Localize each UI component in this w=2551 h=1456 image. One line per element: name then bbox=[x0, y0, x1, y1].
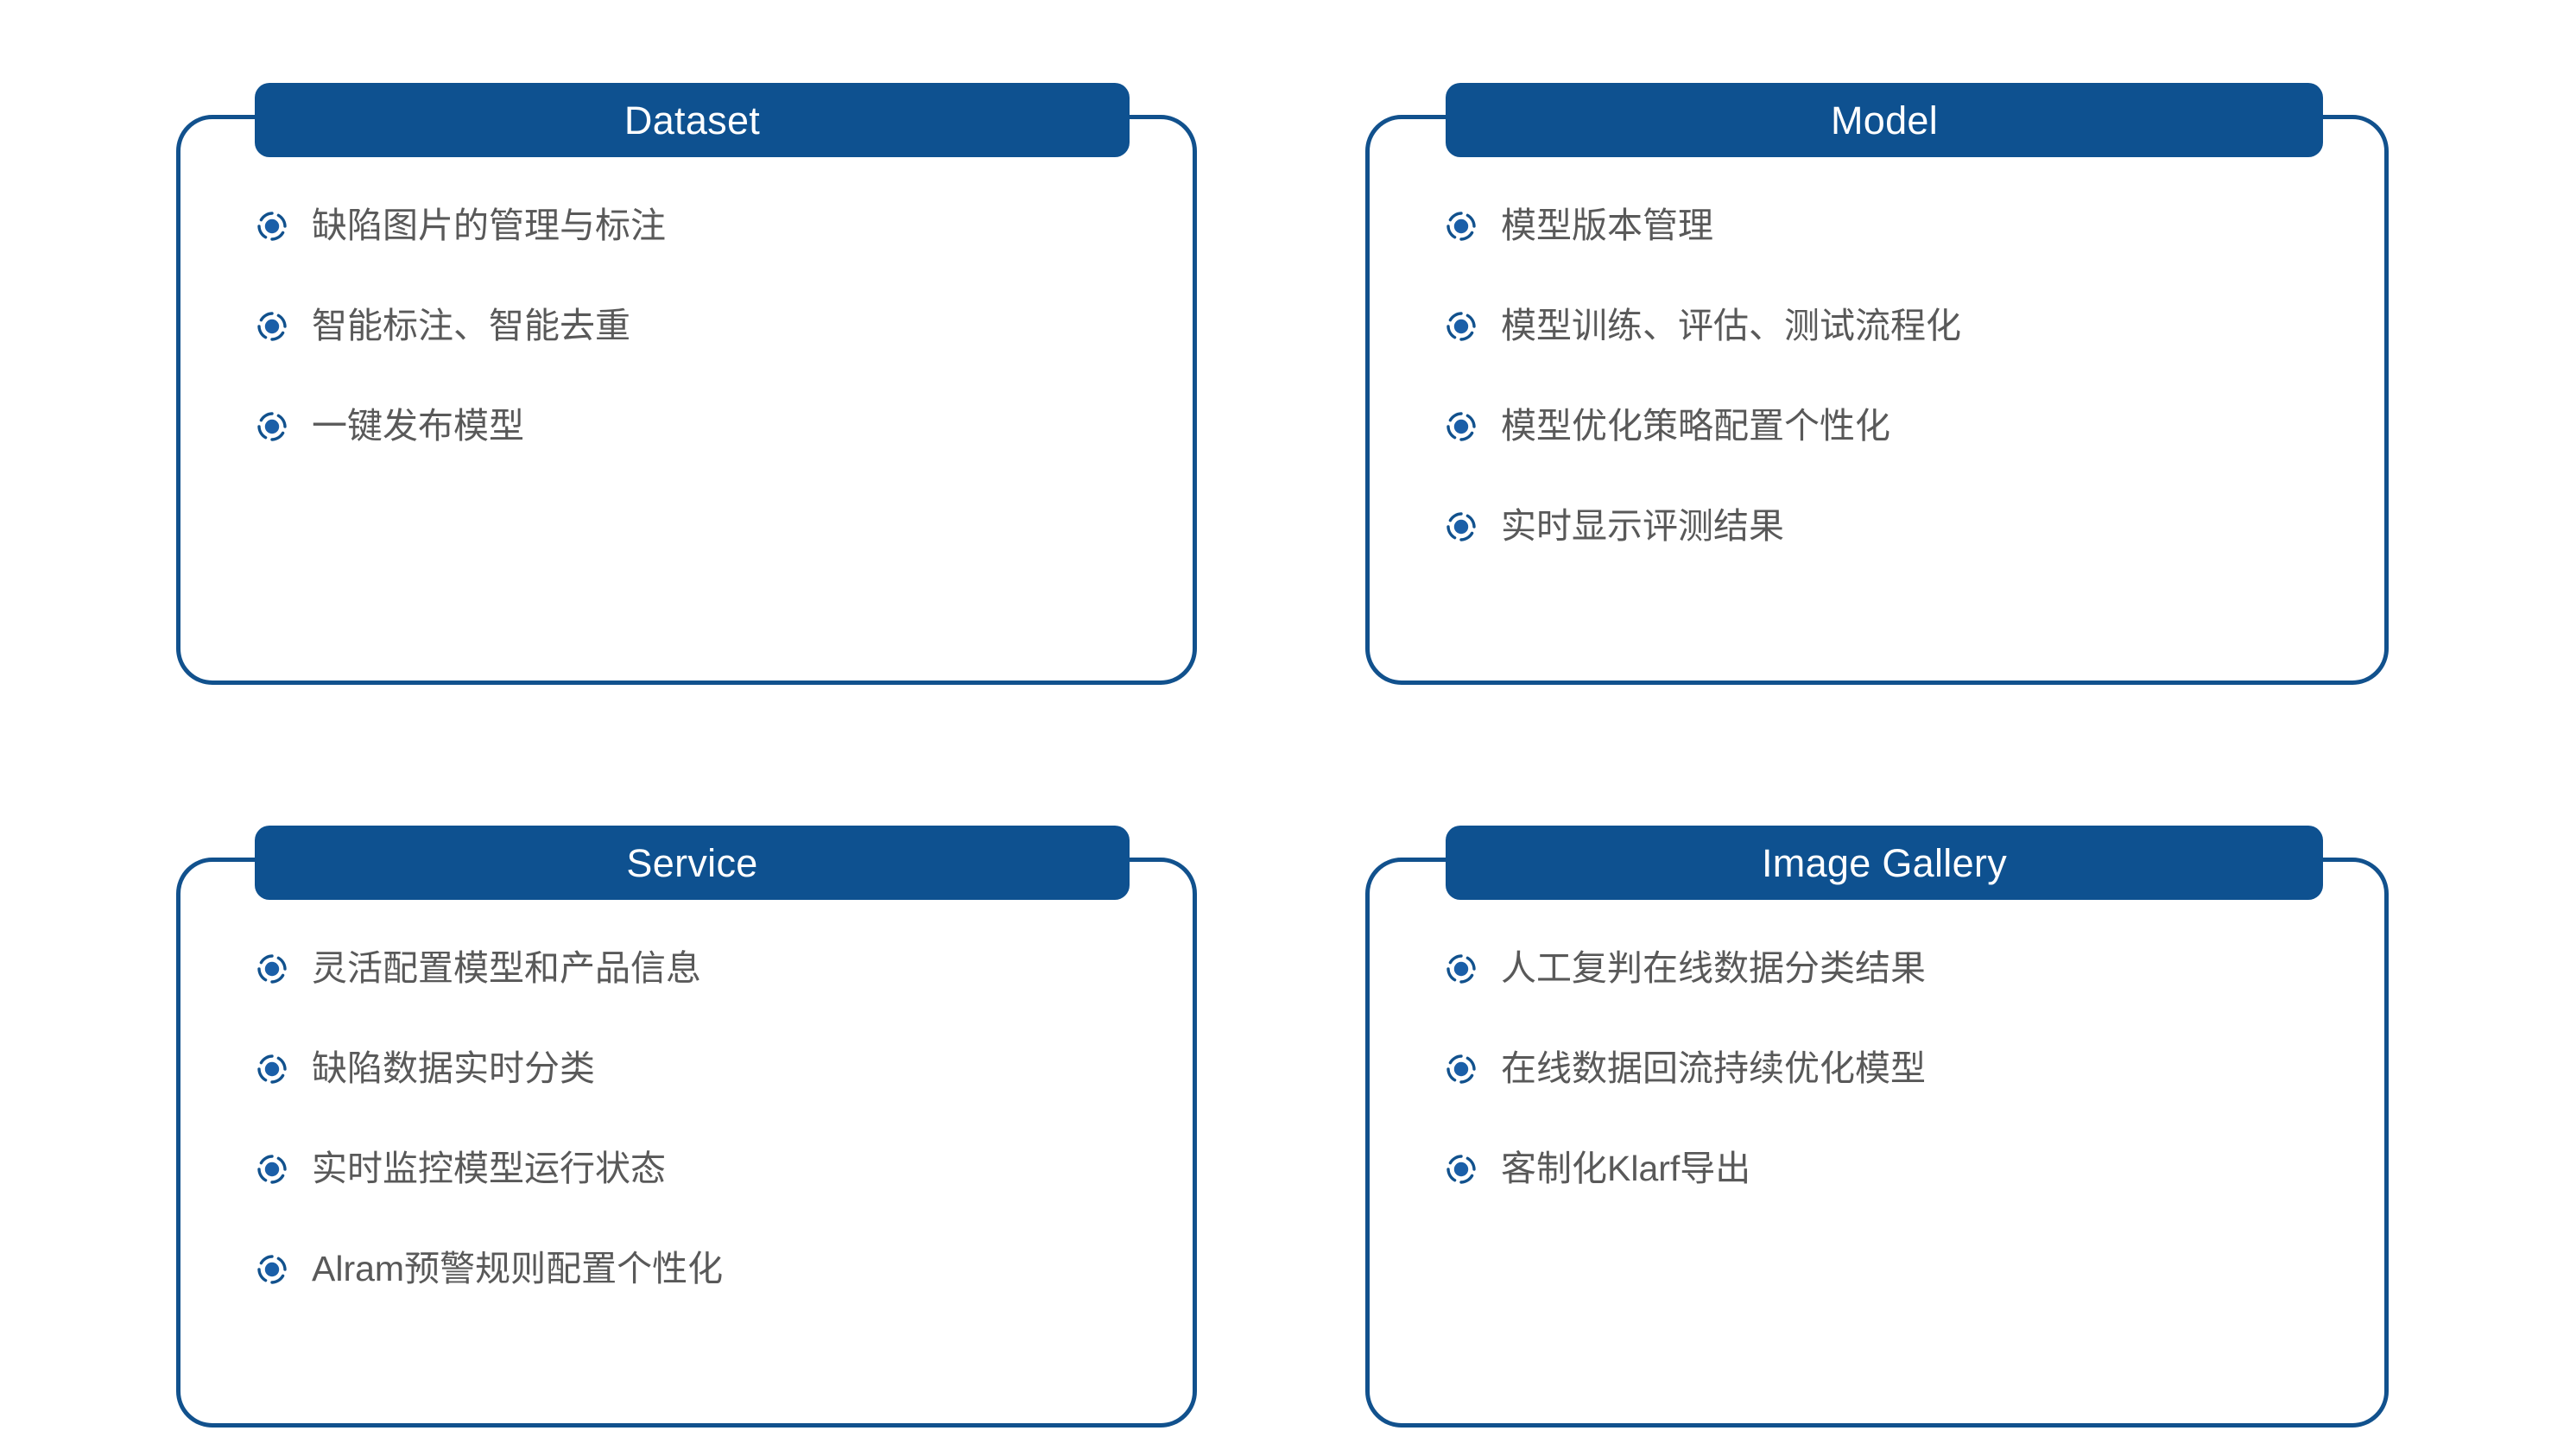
target-dot-icon bbox=[253, 1050, 291, 1088]
target-dot-icon bbox=[253, 207, 291, 245]
list-item-label: Alram预警规则配置个性化 bbox=[312, 1250, 723, 1288]
target-dot-icon bbox=[253, 307, 291, 345]
target-dot-icon bbox=[1442, 1150, 1480, 1188]
list-item-label: 智能标注、智能去重 bbox=[312, 307, 630, 345]
list-item: 缺陷数据实时分类 bbox=[253, 1019, 1193, 1119]
list-item-label: 实时显示评测结果 bbox=[1501, 507, 1784, 546]
list-item: 模型优化策略配置个性化 bbox=[1442, 377, 2384, 477]
list-item-label: 人工复判在线数据分类结果 bbox=[1501, 949, 1926, 988]
list-item: Alram预警规则配置个性化 bbox=[253, 1219, 1193, 1320]
list-item-label: 缺陷图片的管理与标注 bbox=[312, 206, 666, 245]
target-dot-icon bbox=[1442, 1050, 1480, 1088]
card-header-image-gallery: Image Gallery bbox=[1446, 826, 2323, 900]
list-item-label: 模型优化策略配置个性化 bbox=[1501, 407, 1890, 446]
list-item: 缺陷图片的管理与标注 bbox=[253, 176, 1193, 276]
card-image-gallery: Image Gallery 人工复判在线数据分类结果 bbox=[1365, 858, 2389, 1428]
list-item: 实时显示评测结果 bbox=[1442, 477, 2384, 577]
target-dot-icon bbox=[253, 1250, 291, 1288]
list-item: 客制化Klarf导出 bbox=[1442, 1119, 2384, 1219]
list-item: 智能标注、智能去重 bbox=[253, 276, 1193, 377]
feature-card-board: Dataset 缺陷图片的管理与标注 bbox=[0, 0, 2551, 1456]
card-header-model: Model bbox=[1446, 83, 2323, 157]
target-dot-icon bbox=[1442, 408, 1480, 446]
target-dot-icon bbox=[253, 1150, 291, 1188]
list-item-label: 客制化Klarf导出 bbox=[1501, 1149, 1750, 1188]
target-dot-icon bbox=[1442, 950, 1480, 988]
card-body-service: 灵活配置模型和产品信息 缺陷数据实时分类 bbox=[180, 919, 1193, 1320]
target-dot-icon bbox=[253, 950, 291, 988]
list-item: 模型训练、评估、测试流程化 bbox=[1442, 276, 2384, 377]
card-title-image-gallery: Image Gallery bbox=[1762, 844, 2007, 883]
card-dataset: Dataset 缺陷图片的管理与标注 bbox=[176, 115, 1197, 685]
list-item: 在线数据回流持续优化模型 bbox=[1442, 1019, 2384, 1119]
card-body-model: 模型版本管理 模型训练、评估、测试流程化 bbox=[1370, 176, 2384, 577]
card-body-image-gallery: 人工复判在线数据分类结果 在线数据回流持续优化模型 bbox=[1370, 919, 2384, 1219]
card-header-service: Service bbox=[255, 826, 1130, 900]
list-item-label: 缺陷数据实时分类 bbox=[312, 1049, 595, 1088]
list-item: 灵活配置模型和产品信息 bbox=[253, 919, 1193, 1019]
list-item: 一键发布模型 bbox=[253, 377, 1193, 477]
card-title-model: Model bbox=[1831, 101, 1938, 140]
list-item-label: 实时监控模型运行状态 bbox=[312, 1149, 666, 1188]
list-item-label: 模型训练、评估、测试流程化 bbox=[1501, 307, 1961, 345]
card-service: Service 灵活配置模型和产品信息 bbox=[176, 858, 1197, 1428]
list-item: 人工复判在线数据分类结果 bbox=[1442, 919, 2384, 1019]
list-item-label: 一键发布模型 bbox=[312, 407, 524, 446]
list-item: 实时监控模型运行状态 bbox=[253, 1119, 1193, 1219]
target-dot-icon bbox=[1442, 508, 1480, 546]
target-dot-icon bbox=[253, 408, 291, 446]
card-header-dataset: Dataset bbox=[255, 83, 1130, 157]
list-item-label: 在线数据回流持续优化模型 bbox=[1501, 1049, 1926, 1088]
list-item-label: 灵活配置模型和产品信息 bbox=[312, 949, 701, 988]
card-title-dataset: Dataset bbox=[624, 101, 760, 140]
target-dot-icon bbox=[1442, 207, 1480, 245]
card-body-dataset: 缺陷图片的管理与标注 智能标注、智能去重 bbox=[180, 176, 1193, 477]
card-title-service: Service bbox=[626, 844, 757, 883]
list-item: 模型版本管理 bbox=[1442, 176, 2384, 276]
card-model: Model 模型版本管理 bbox=[1365, 115, 2389, 685]
target-dot-icon bbox=[1442, 307, 1480, 345]
list-item-label: 模型版本管理 bbox=[1501, 206, 1713, 245]
